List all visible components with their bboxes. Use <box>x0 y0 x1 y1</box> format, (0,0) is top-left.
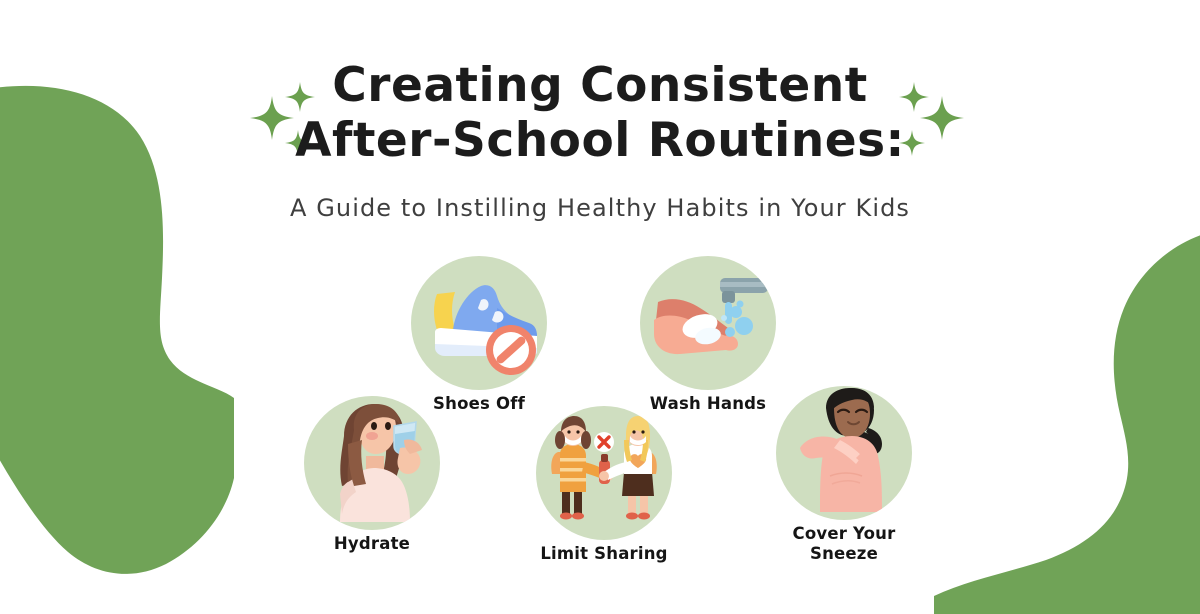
page-title: Creating Consistent After-School Routine… <box>0 58 1200 168</box>
habit-badge-wash-hands[interactable]: Wash Hands <box>633 256 783 414</box>
habit-label: Limit Sharing <box>529 544 679 564</box>
habit-badge-limit-sharing[interactable]: Limit Sharing <box>529 406 679 564</box>
habit-disc <box>536 406 672 540</box>
habit-label: Cover Your Sneeze <box>769 524 919 565</box>
sneaker-prohibited-icon <box>411 256 547 390</box>
green-blob-right <box>934 200 1200 614</box>
habit-disc <box>304 396 440 530</box>
habit-badge-cover-sneeze[interactable]: Cover Your Sneeze <box>769 386 919 565</box>
habit-badge-hydrate[interactable]: Hydrate <box>297 396 447 554</box>
habit-disc <box>411 256 547 390</box>
title-line-2: After-School Routines: <box>0 113 1200 168</box>
habit-badge-shoes-off[interactable]: Shoes Off <box>404 256 554 414</box>
handwashing-faucet-icon <box>640 256 776 390</box>
girl-drinking-water-icon <box>304 396 440 530</box>
page-subtitle: A Guide to Instilling Healthy Habits in … <box>0 194 1200 222</box>
sneeze-into-elbow-icon <box>776 386 912 520</box>
title-line-1: Creating Consistent <box>0 58 1200 113</box>
habit-disc <box>640 256 776 390</box>
habit-label: Hydrate <box>297 534 447 554</box>
two-kids-bottle-x-icon <box>536 406 672 540</box>
habit-disc <box>776 386 912 520</box>
header: Creating Consistent After-School Routine… <box>0 0 1200 222</box>
infographic-canvas: Creating Consistent After-School Routine… <box>0 0 1200 614</box>
